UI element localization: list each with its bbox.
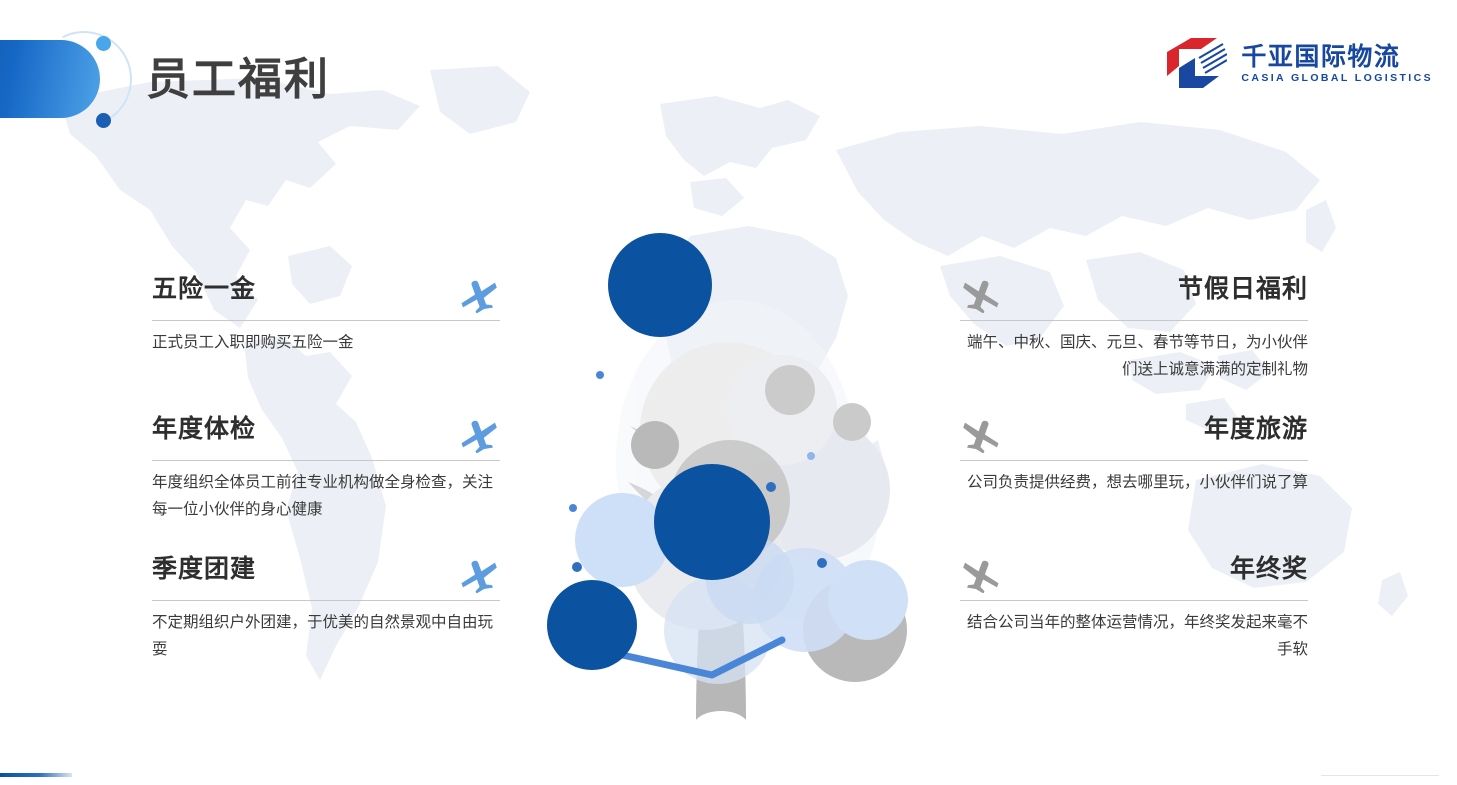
- tree-dot-3: [572, 562, 582, 572]
- benefit-header: 季度团建: [152, 555, 500, 601]
- benefit-item: 节假日福利 端午、中秋、国庆、元旦、春节等节日，为小伙伴们送上诚意满满的定制礼物: [960, 275, 1308, 415]
- logo-name-cn: 千亚国际物流: [1241, 43, 1433, 72]
- benefit-description: 不定期组织户外团建，于优美的自然景观中自由玩耍: [152, 609, 500, 663]
- tree-bubble-darkblue-3: [547, 580, 637, 670]
- benefits-column-right: 节假日福利 端午、中秋、国庆、元旦、春节等节日，为小伙伴们送上诚意满满的定制礼物…: [960, 275, 1308, 695]
- header-arc-decoration: [24, 19, 145, 140]
- benefit-item: 年终奖 结合公司当年的整体运营情况，年终奖发起来毫不手软: [960, 555, 1308, 695]
- benefit-title: 年度旅游: [1204, 415, 1308, 444]
- benefit-header: 五险一金: [152, 275, 500, 321]
- airplane-icon: [960, 557, 1002, 593]
- tree-bubble-gray-3: [833, 403, 871, 441]
- benefit-title: 五险一金: [152, 275, 256, 304]
- tree-bubble-darkblue-2: [654, 464, 770, 580]
- tree-bubble-gray-2: [765, 365, 815, 415]
- header-bottom-dot-icon: [96, 113, 111, 128]
- bubble-tree-illustration: [500, 160, 960, 740]
- tree-bubble-gray-1: [631, 421, 679, 469]
- airplane-icon: [960, 417, 1002, 453]
- benefit-divider: [960, 320, 1308, 321]
- tree-dot-6: [817, 558, 827, 568]
- benefit-title: 年终奖: [1230, 555, 1308, 584]
- page-title: 员工福利: [146, 58, 330, 102]
- benefit-title: 季度团建: [152, 555, 256, 584]
- tree-dot-4: [766, 482, 776, 492]
- benefit-divider: [152, 460, 500, 461]
- tree-bubble-darkblue-1: [608, 233, 712, 337]
- benefit-header: 年度体检: [152, 415, 500, 461]
- benefit-title: 节假日福利: [1178, 275, 1308, 304]
- airplane-icon: [458, 277, 500, 313]
- tree-bubble-lightblue-3: [828, 560, 908, 640]
- tree-bubble-lightblue-1: [575, 493, 669, 587]
- benefit-divider: [152, 600, 500, 601]
- benefit-item: 年度旅游 公司负责提供经费，想去哪里玩，小伙伴们说了算: [960, 415, 1308, 555]
- benefit-divider: [152, 320, 500, 321]
- airplane-icon: [960, 277, 1002, 313]
- bottom-left-accent-bar: [0, 773, 72, 777]
- benefit-description: 正式员工入职即购买五险一金: [152, 329, 500, 356]
- logo-name-en: CASIA GLOBAL LOGISTICS: [1241, 72, 1433, 85]
- benefit-item: 季度团建 不定期组织户外团建，于优美的自然景观中自由玩耍: [152, 555, 500, 695]
- benefit-title: 年度体检: [152, 415, 256, 444]
- benefit-item: 年度体检 年度组织全体员工前往专业机构做全身检查，关注每一位小伙伴的身心健康: [152, 415, 500, 555]
- benefit-header: 年度旅游: [960, 415, 1308, 461]
- benefit-description: 公司负责提供经费，想去哪里玩，小伙伴们说了算: [960, 469, 1308, 496]
- airplane-icon: [458, 557, 500, 593]
- benefits-column-left: 五险一金 正式员工入职即购买五险一金 年度体检: [152, 275, 500, 695]
- benefit-description: 结合公司当年的整体运营情况，年终奖发起来毫不手软: [960, 609, 1308, 663]
- header-top-dot-icon: [96, 36, 111, 51]
- benefit-item: 五险一金 正式员工入职即购买五险一金: [152, 275, 500, 415]
- logo-mark-icon: [1161, 36, 1227, 92]
- benefit-header: 年终奖: [960, 555, 1308, 601]
- benefit-description: 年度组织全体员工前往专业机构做全身检查，关注每一位小伙伴的身心健康: [152, 469, 500, 523]
- benefit-divider: [960, 600, 1308, 601]
- benefit-divider: [960, 460, 1308, 461]
- airplane-icon: [458, 417, 500, 453]
- benefit-description: 端午、中秋、国庆、元旦、春节等节日，为小伙伴们送上诚意满满的定制礼物: [960, 329, 1308, 383]
- bottom-right-accent-line: [1321, 775, 1439, 776]
- company-logo: 千亚国际物流 CASIA GLOBAL LOGISTICS: [1161, 36, 1433, 92]
- slide-canvas: 员工福利 千亚国际物流 CASIA GLOBAL LOGISTICS: [0, 0, 1457, 785]
- tree-dot-5: [807, 452, 815, 460]
- benefit-header: 节假日福利: [960, 275, 1308, 321]
- tree-dot-1: [596, 371, 604, 379]
- tree-dot-2: [569, 504, 577, 512]
